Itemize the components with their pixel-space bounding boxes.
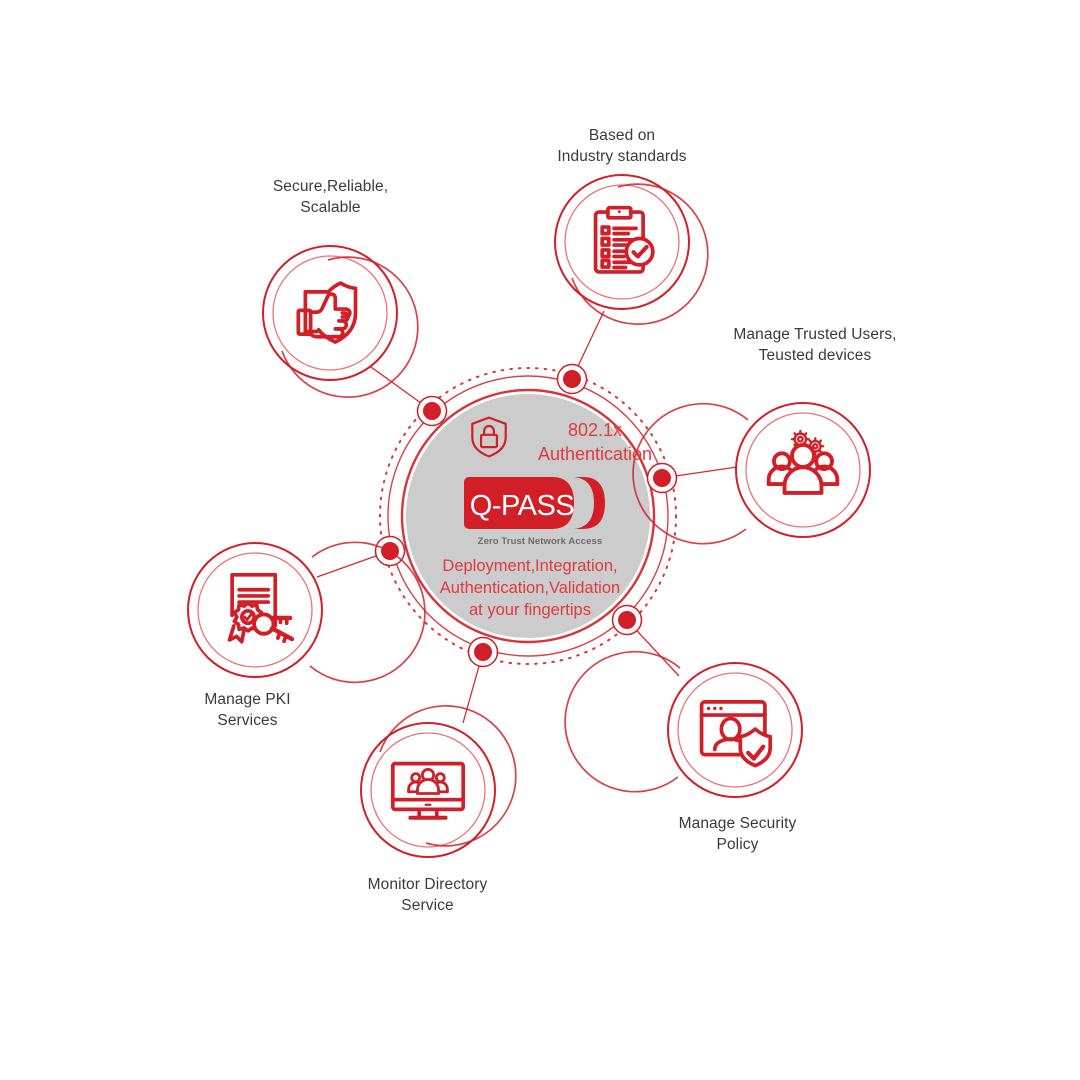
node-outer-ring bbox=[555, 175, 689, 309]
connector-dot-trusted-users-devices[interactable] bbox=[648, 464, 677, 493]
node-monitor-directory-service[interactable] bbox=[361, 706, 516, 857]
connector-dot-secure-reliable-scalable[interactable] bbox=[418, 397, 447, 426]
connector-dot-security-policy[interactable] bbox=[613, 606, 642, 635]
connector-dot-industry-standards[interactable] bbox=[558, 365, 587, 394]
node-accent-arc bbox=[565, 652, 680, 792]
node-accent-arc bbox=[310, 542, 425, 682]
diagram-canvas: 802.1x Authentication Q-PASS Zero Trust … bbox=[0, 0, 1080, 1080]
node-secure-reliable-scalable[interactable] bbox=[263, 246, 418, 397]
node-outer-ring bbox=[263, 246, 397, 380]
node-outer-ring bbox=[668, 663, 802, 797]
diagram-svg bbox=[0, 0, 1080, 1080]
node-security-policy[interactable] bbox=[565, 652, 802, 797]
logo-plate bbox=[464, 477, 574, 529]
connector-dot-monitor-directory-service[interactable] bbox=[469, 638, 498, 667]
node-industry-standards[interactable] bbox=[555, 175, 708, 324]
